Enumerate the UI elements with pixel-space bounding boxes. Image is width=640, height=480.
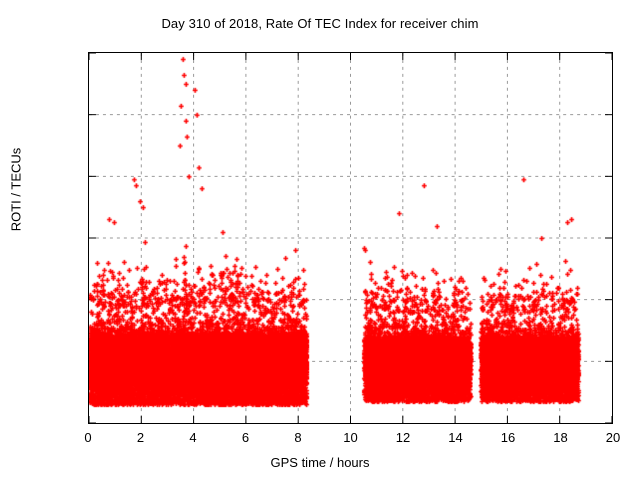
chart-page: Day 310 of 2018, Rate Of TEC Index for r… [0, 0, 640, 480]
y-axis-label: ROTI / TECUs [9, 130, 24, 250]
x-tick-label: 20 [593, 430, 633, 445]
x-tick-label: 12 [383, 430, 423, 445]
x-tick-label: 0 [68, 430, 108, 445]
x-tick-label: 6 [226, 430, 266, 445]
scatter-points [89, 53, 612, 423]
x-tick-label: 10 [331, 430, 371, 445]
plot-area [88, 52, 613, 424]
x-axis-label: GPS time / hours [0, 455, 640, 470]
x-tick-label: 18 [541, 430, 581, 445]
x-tick-label: 2 [121, 430, 161, 445]
x-tick-label: 16 [488, 430, 528, 445]
x-tick-label: 8 [278, 430, 318, 445]
x-tick-label: 4 [173, 430, 213, 445]
x-tick-label: 14 [436, 430, 476, 445]
page-title: Day 310 of 2018, Rate Of TEC Index for r… [0, 16, 640, 31]
